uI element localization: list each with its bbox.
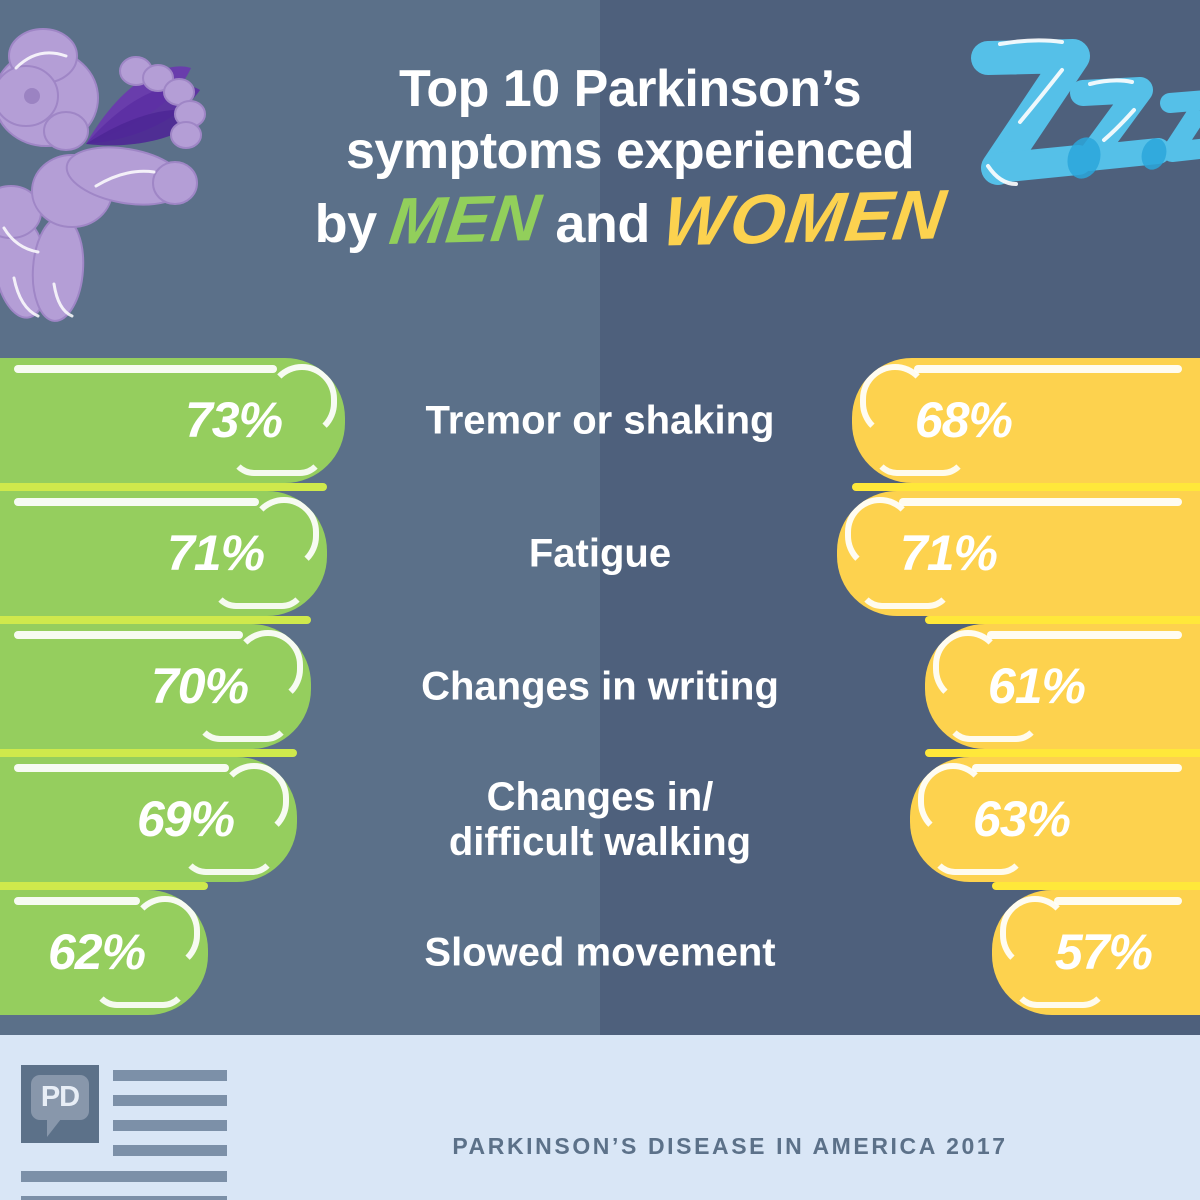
pd-logo-text: PD (31, 1075, 89, 1120)
symptom-label: Tremor or shaking (330, 398, 870, 443)
women-percent-label: 68% (915, 390, 1012, 448)
women-percent-label: 57% (1055, 922, 1152, 980)
women-bar (837, 491, 1200, 616)
footer-caption: PARKINSON’S DISEASE IN AMERICA 2017 (300, 1133, 1160, 1160)
title-line-2: symptoms experienced (250, 120, 1010, 182)
bar-separator-left (0, 616, 311, 624)
bar-gloss-highlight (14, 365, 277, 373)
bar-separator-right (992, 882, 1200, 890)
women-percent-label: 71% (900, 523, 997, 581)
chart-row: 71%71%Fatigue (0, 491, 1200, 616)
bar-gloss-highlight (1054, 897, 1182, 905)
symptom-label: Changes in writing (330, 664, 870, 709)
symptom-label: Changes in/difficult walking (330, 775, 870, 865)
bar-separator-right (925, 616, 1200, 624)
symptom-label-line: Changes in writing (330, 664, 870, 709)
bar-gloss-highlight (14, 498, 259, 506)
symptom-label-line: Tremor or shaking (330, 398, 870, 443)
title-word-by: by (315, 194, 377, 254)
chart-row: 69%63%Changes in/difficult walking (0, 757, 1200, 882)
title-line-1: Top 10 Parkinson’s (250, 58, 1010, 120)
symptom-label: Slowed movement (330, 930, 870, 975)
pd-logo-icon: PD (21, 1065, 99, 1143)
bar-gloss-highlight (914, 365, 1182, 373)
chart-row: 62%57%Slowed movement (0, 890, 1200, 1015)
men-percent-label: 69% (137, 789, 234, 847)
bar-separator-right (852, 483, 1200, 491)
symptom-label-line: Fatigue (330, 531, 870, 576)
page-title: Top 10 Parkinson’s symptoms experienced … (250, 58, 1010, 260)
infographic-root: Top 10 Parkinson’s symptoms experienced … (0, 0, 1200, 1200)
title-word-women: WOMEN (659, 178, 951, 257)
men-bar (0, 491, 327, 616)
footer-line-4 (113, 1145, 227, 1156)
men-percent-label: 70% (151, 656, 248, 714)
bar-separator-left (0, 483, 327, 491)
men-percent-label: 62% (48, 922, 145, 980)
women-percent-label: 61% (988, 656, 1085, 714)
bar-separator-right (925, 749, 1200, 757)
bar-separator-left (0, 749, 297, 757)
bar-gloss-highlight (14, 631, 243, 639)
title-word-men: MEN (386, 181, 546, 257)
women-percent-label: 63% (973, 789, 1070, 847)
symptom-label-line: difficult walking (330, 820, 870, 865)
men-percent-label: 71% (167, 523, 264, 581)
footer-line-6 (21, 1196, 227, 1200)
symptom-label-line: Slowed movement (330, 930, 870, 975)
footer-line-5 (21, 1171, 227, 1182)
footer-line-2 (113, 1095, 227, 1106)
bar-gloss-highlight (899, 498, 1182, 506)
chart-row: 70%61%Changes in writing (0, 624, 1200, 749)
title-word-and: and (555, 194, 650, 254)
men-bar (0, 358, 345, 483)
men-percent-label: 73% (185, 390, 282, 448)
chart-row: 73%68%Tremor or shaking (0, 358, 1200, 483)
footer-line-3 (113, 1120, 227, 1131)
symptom-label: Fatigue (330, 531, 870, 576)
symptom-label-line: Changes in/ (330, 775, 870, 820)
women-bar (852, 358, 1200, 483)
title-line-3: by MEN and WOMEN (250, 182, 1010, 260)
bar-gloss-highlight (14, 764, 229, 772)
footer: PD PARKINSON’S DISEASE IN AMERICA 2017 (0, 1035, 1200, 1200)
bar-separator-left (0, 882, 208, 890)
bar-gloss-highlight (14, 897, 140, 905)
bar-gloss-highlight (987, 631, 1182, 639)
pd-logo-tail (47, 1119, 61, 1137)
symptom-bar-chart: 73%68%Tremor or shaking71%71%Fatigue70%6… (0, 358, 1200, 1013)
footer-line-1 (113, 1070, 227, 1081)
bar-gloss-highlight (972, 764, 1182, 772)
header: Top 10 Parkinson’s symptoms experienced … (0, 0, 1200, 340)
balloon-dog-icon (0, 16, 236, 326)
